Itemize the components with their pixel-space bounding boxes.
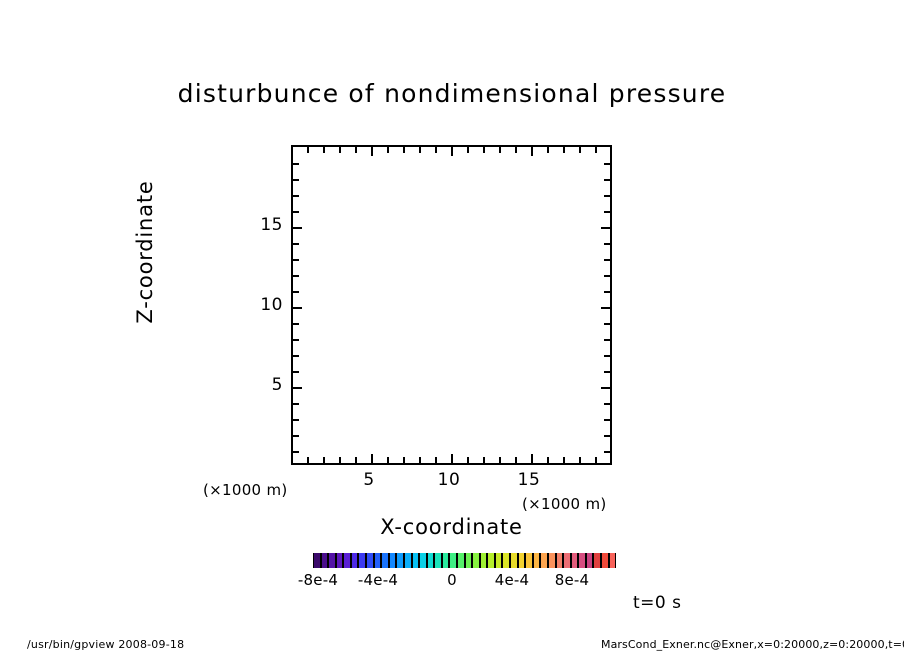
y-tick-minor: [293, 371, 299, 373]
colorbar-cell: [480, 553, 488, 568]
y-tick-right-minor: [604, 211, 610, 213]
y-tick-right-minor: [604, 163, 610, 165]
x-tick-top-minor: [307, 147, 309, 153]
colorbar-cell: [328, 553, 336, 568]
colorbar-tick-label: -4e-4: [348, 571, 408, 589]
colorbar[interactable]: [313, 553, 616, 568]
colorbar-cell: [442, 553, 450, 568]
x-tick-minor: [515, 457, 517, 463]
x-tick-top-minor: [579, 147, 581, 153]
x-tick-minor: [579, 457, 581, 463]
y-tick-right-minor: [604, 323, 610, 325]
y-tick-right-minor: [604, 275, 610, 277]
colorbar-cell: [449, 553, 457, 568]
x-tick-top-minor: [339, 147, 341, 153]
plot-canvas: disturbunce of nondimensional pressure: [0, 0, 904, 654]
y-tick-minor: [293, 339, 299, 341]
y-tick-minor: [293, 195, 299, 197]
x-tick-top-minor: [387, 147, 389, 153]
x-tick-top-minor: [547, 147, 549, 153]
x-tick-label: 5: [349, 470, 389, 490]
colorbar-cell: [548, 553, 556, 568]
x-tick-minor: [339, 457, 341, 463]
x-tick-minor: [595, 457, 597, 463]
colorbar-cell: [313, 553, 321, 568]
colorbar-cell: [321, 553, 329, 568]
y-tick-minor: [293, 211, 299, 213]
x-tick-top-minor: [419, 147, 421, 153]
x-tick-top-minor: [483, 147, 485, 153]
x-axis-title: X-coordinate: [291, 515, 612, 539]
colorbar-cell: [343, 553, 351, 568]
y-tick-right-minor: [604, 435, 610, 437]
colorbar-cell: [586, 553, 594, 568]
x-tick-label: 10: [429, 470, 469, 490]
colorbar-cell: [510, 553, 518, 568]
x-tick-top-minor: [355, 147, 357, 153]
time-annotation: t=0 s: [633, 593, 682, 613]
colorbar-cell: [472, 553, 480, 568]
y-tick-right-major: [601, 387, 610, 389]
y-tick-major-10: [293, 307, 302, 309]
colorbar-cell: [540, 553, 548, 568]
colorbar-cell: [389, 553, 397, 568]
x-tick-top-minor: [323, 147, 325, 153]
colorbar-cell: [525, 553, 533, 568]
x-tick-minor: [323, 457, 325, 463]
y-tick-right-minor: [604, 179, 610, 181]
y-tick-major-15: [293, 227, 302, 229]
colorbar-cell: [518, 553, 526, 568]
y-tick-right-minor: [604, 451, 610, 453]
colorbar-cell: [495, 553, 503, 568]
colorbar-cell: [502, 553, 510, 568]
y-tick-minor: [293, 419, 299, 421]
x-tick-major-5: [371, 454, 373, 463]
colorbar-cell: [358, 553, 366, 568]
y-tick-minor: [293, 259, 299, 261]
colorbar-cell: [487, 553, 495, 568]
x-tick-minor: [563, 457, 565, 463]
y-tick-minor: [293, 323, 299, 325]
y-tick-minor: [293, 179, 299, 181]
y-tick-right-minor: [604, 371, 610, 373]
y-tick-right-major: [601, 227, 610, 229]
y-tick-minor: [293, 451, 299, 453]
y-axis-title: Z-coordinate: [133, 102, 157, 402]
colorbar-cell: [396, 553, 404, 568]
x-tick-minor: [467, 457, 469, 463]
y-tick-minor: [293, 243, 299, 245]
colorbar-cell: [556, 553, 564, 568]
x-tick-minor: [499, 457, 501, 463]
x-tick-top-minor: [435, 147, 437, 153]
y-tick-major-5: [293, 387, 302, 389]
y-tick-minor: [293, 355, 299, 357]
colorbar-cell: [336, 553, 344, 568]
colorbar-cell: [601, 553, 609, 568]
colorbar-cell: [427, 553, 435, 568]
colorbar-cell: [578, 553, 586, 568]
x-tick-minor: [403, 457, 405, 463]
x-tick-top-minor: [595, 147, 597, 153]
x-tick-minor: [483, 457, 485, 463]
x-tick-top-major: [451, 147, 453, 156]
plot-area[interactable]: [291, 145, 612, 465]
x-tick-top-major: [371, 147, 373, 156]
x-tick-minor: [355, 457, 357, 463]
colorbar-cell: [412, 553, 420, 568]
colorbar-cell: [533, 553, 541, 568]
x-tick-top-minor: [467, 147, 469, 153]
y-tick-right-major: [601, 307, 610, 309]
colorbar-cell: [351, 553, 359, 568]
y-tick-minor: [293, 435, 299, 437]
colorbar-tick-label: -8e-4: [288, 571, 348, 589]
colorbar-tick-label: 8e-4: [542, 571, 602, 589]
colorbar-cell: [593, 553, 601, 568]
y-tick-right-minor: [604, 243, 610, 245]
y-tick-minor: [293, 403, 299, 405]
colorbar-tick-label: 0: [422, 571, 482, 589]
y-tick-label: 15: [243, 215, 283, 235]
y-tick-right-minor: [604, 355, 610, 357]
x-tick-minor: [435, 457, 437, 463]
y-tick-right-minor: [604, 291, 610, 293]
colorbar-cell: [457, 553, 465, 568]
x-tick-major-10: [451, 454, 453, 463]
x-tick-minor: [307, 457, 309, 463]
x-tick-minor: [547, 457, 549, 463]
x-tick-top-minor: [563, 147, 565, 153]
x-tick-top-minor: [499, 147, 501, 153]
y-tick-right-minor: [604, 195, 610, 197]
y-tick-minor: [293, 163, 299, 165]
y-tick-label: 10: [243, 295, 283, 315]
y-tick-minor: [293, 291, 299, 293]
colorbar-cell: [571, 553, 579, 568]
x-tick-major-15: [531, 454, 533, 463]
x-tick-top-major: [531, 147, 533, 156]
y-tick-minor: [293, 275, 299, 277]
y-tick-right-minor: [604, 259, 610, 261]
colorbar-cell: [563, 553, 571, 568]
colorbar-tick-label: 4e-4: [482, 571, 542, 589]
footer-command: /usr/bin/gpview 2008-09-18: [27, 638, 184, 651]
x-axis-unit-label: (×1000 m): [522, 495, 607, 513]
colorbar-cell: [374, 553, 382, 568]
x-tick-label: 15: [509, 470, 549, 490]
x-tick-minor: [419, 457, 421, 463]
colorbar-cell: [404, 553, 412, 568]
colorbar-cell: [366, 553, 374, 568]
y-tick-label: 5: [243, 375, 283, 395]
colorbar-cell: [609, 553, 616, 568]
y-tick-right-minor: [604, 403, 610, 405]
colorbar-cell: [434, 553, 442, 568]
y-axis-unit-label: (×1000 m): [203, 481, 288, 499]
x-tick-top-minor: [403, 147, 405, 153]
colorbar-cell: [381, 553, 389, 568]
x-tick-top-minor: [515, 147, 517, 153]
x-tick-minor: [387, 457, 389, 463]
y-tick-right-minor: [604, 339, 610, 341]
y-tick-right-minor: [604, 419, 610, 421]
colorbar-cell: [419, 553, 427, 568]
colorbar-cell: [465, 553, 473, 568]
footer-dataset: MarsCond_Exner.nc@Exner,x=0:20000,z=0:20…: [601, 638, 904, 651]
